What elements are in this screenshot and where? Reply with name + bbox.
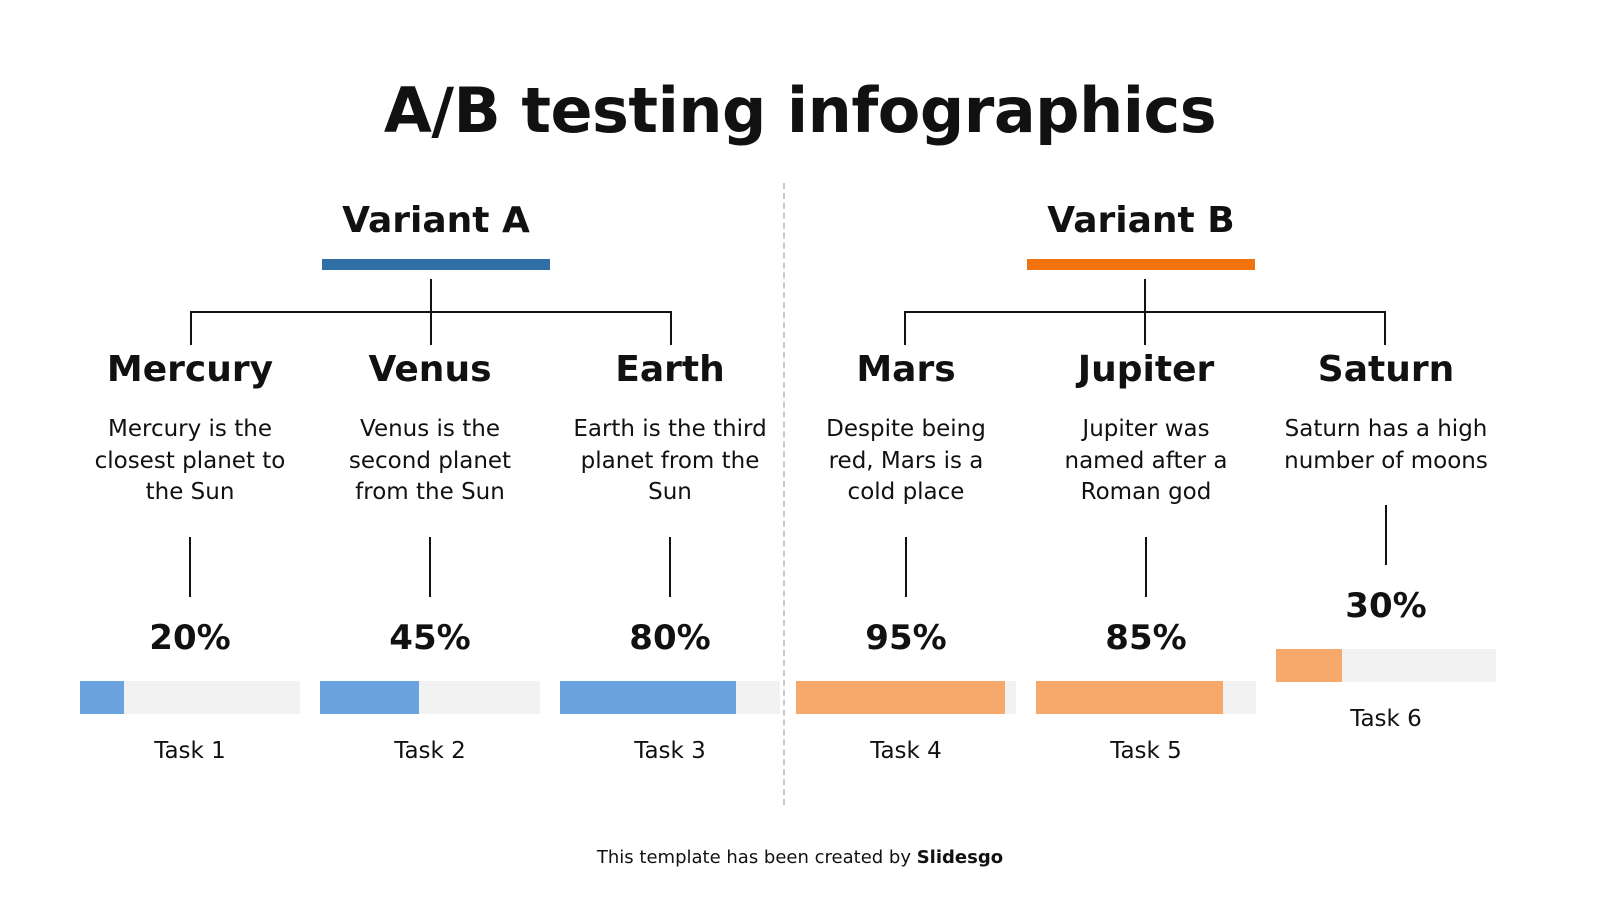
planet-title: Mercury: [70, 352, 310, 388]
progress-bar-fill: [560, 681, 736, 714]
planet-title: Jupiter: [1026, 352, 1266, 388]
footer-text: This template has been created by: [597, 847, 917, 868]
column-stem: [1145, 537, 1147, 597]
percentage-value: 45%: [310, 621, 550, 655]
variant-b-columns: Mars Despite being red, Mars is a cold p…: [786, 352, 1508, 763]
column-mercury[interactable]: Mercury Mercury is the closest planet to…: [70, 352, 310, 763]
variant-a-header: Variant A: [205, 203, 667, 270]
footer-brand: Slidesgo: [917, 847, 1003, 868]
planet-description: Despite being red, Mars is a cold place: [804, 414, 1009, 509]
page-title: A/B testing infographics: [0, 80, 1600, 142]
planet-title: Venus: [310, 352, 550, 388]
column-stem: [669, 537, 671, 597]
progress-bar-fill: [796, 681, 1005, 714]
planet-description: Earth is the third planet from the Sun: [568, 414, 773, 509]
percentage-value: 95%: [786, 621, 1026, 655]
variant-a-tree-connector: [190, 279, 672, 345]
task-label: Task 1: [70, 740, 310, 763]
column-jupiter[interactable]: Jupiter Jupiter was named after a Roman …: [1026, 352, 1266, 763]
planet-description: Jupiter was named after a Roman god: [1044, 414, 1249, 509]
variant-b-label: Variant B: [910, 203, 1372, 239]
footer-credit: This template has been created by Slides…: [0, 847, 1600, 868]
variant-b-accent-bar: [1027, 259, 1255, 270]
task-label: Task 6: [1266, 708, 1506, 731]
progress-bar-fill: [1036, 681, 1223, 714]
planet-title: Mars: [786, 352, 1026, 388]
column-stem: [429, 537, 431, 597]
progress-bar-track: [1036, 681, 1256, 714]
progress-bar-track: [560, 681, 780, 714]
task-label: Task 2: [310, 740, 550, 763]
progress-bar-track: [320, 681, 540, 714]
planet-description: Mercury is the closest planet to the Sun: [88, 414, 293, 509]
tree-stem: [1144, 279, 1146, 312]
progress-bar-track: [80, 681, 300, 714]
tree-drop: [670, 311, 672, 345]
progress-bar-fill: [320, 681, 419, 714]
tree-drop: [190, 311, 192, 345]
planet-title: Saturn: [1266, 352, 1506, 388]
column-mars[interactable]: Mars Despite being red, Mars is a cold p…: [786, 352, 1026, 763]
column-stem: [1385, 505, 1387, 565]
task-label: Task 4: [786, 740, 1026, 763]
variant-b-tree-connector: [904, 279, 1386, 345]
tree-drop: [1384, 311, 1386, 345]
variant-a-label: Variant A: [205, 203, 667, 239]
planet-description: Venus is the second planet from the Sun: [328, 414, 533, 509]
percentage-value: 30%: [1266, 589, 1506, 623]
percentage-value: 20%: [70, 621, 310, 655]
progress-bar-fill: [80, 681, 124, 714]
variant-a-columns: Mercury Mercury is the closest planet to…: [70, 352, 792, 763]
column-stem: [189, 537, 191, 597]
progress-bar-fill: [1276, 649, 1342, 682]
tree-drop: [1144, 311, 1146, 345]
variant-a-accent-bar: [322, 259, 550, 270]
column-earth[interactable]: Earth Earth is the third planet from the…: [550, 352, 790, 763]
variant-b-header: Variant B: [910, 203, 1372, 270]
percentage-value: 80%: [550, 621, 790, 655]
progress-bar-track: [796, 681, 1016, 714]
percentage-value: 85%: [1026, 621, 1266, 655]
planet-description: Saturn has a high number of moons: [1284, 414, 1489, 477]
tree-stem: [430, 279, 432, 312]
column-venus[interactable]: Venus Venus is the second planet from th…: [310, 352, 550, 763]
column-saturn[interactable]: Saturn Saturn has a high number of moons…: [1266, 352, 1506, 763]
slide-canvas: A/B testing infographics Variant A Varia…: [0, 0, 1600, 900]
tree-drop: [904, 311, 906, 345]
planet-title: Earth: [550, 352, 790, 388]
column-stem: [905, 537, 907, 597]
task-label: Task 5: [1026, 740, 1266, 763]
task-label: Task 3: [550, 740, 790, 763]
progress-bar-track: [1276, 649, 1496, 682]
tree-drop: [430, 311, 432, 345]
